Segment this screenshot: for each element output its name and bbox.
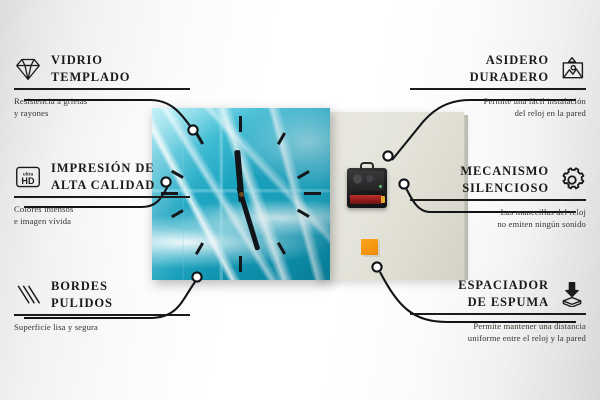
tick-mark [277, 242, 286, 255]
polished-edges-icon [14, 282, 42, 308]
feature-heading: ESPACIADOR DE ESPUMA [410, 277, 586, 310]
gear-icon [558, 167, 586, 193]
feature-title: IMPRESIÓN DE ALTA CALIDAD [51, 160, 155, 193]
battery-terminal [381, 196, 385, 203]
foam-spacer-pad [361, 239, 378, 255]
feature-description: Superficie lisa y segura [14, 321, 190, 333]
tick-mark [304, 192, 321, 195]
feature-mecanismo-silencioso: MECANISMO SILENCIOSO Las manecillas del … [410, 163, 586, 230]
mechanism-hanger-loop [360, 162, 374, 170]
feature-title-line1: VIDRIO [51, 53, 103, 67]
battery [350, 195, 382, 204]
feature-title: VIDRIO TEMPLADO [51, 52, 130, 85]
feature-bordes-pulidos: BORDES PULIDOS Superficie lisa y segura [14, 278, 190, 333]
feature-desc-line1: Superficie lisa y segura [14, 322, 98, 332]
foam-spacer-arrow-icon [558, 281, 586, 307]
tick-mark [195, 132, 204, 145]
tick-mark [239, 256, 242, 272]
tick-mark [277, 132, 286, 145]
feature-title-line2: SILENCIOSO [462, 181, 549, 195]
feature-description: Las manecillas del reloj no emiten ningú… [410, 206, 586, 230]
feature-desc-line2: uniforme entre el reloj y la pared [468, 333, 586, 343]
feature-vidrio-templado: VIDRIO TEMPLADO Resistencia a grietas y … [14, 52, 190, 119]
feature-heading: VIDRIO TEMPLADO [14, 52, 190, 85]
feature-description: Resistencia a grietas y rayones [14, 95, 190, 119]
feature-heading: ultra HD IMPRESIÓN DE ALTA CALIDAD [14, 160, 190, 193]
divider [410, 88, 586, 90]
feature-title: ASIDERO DURADERO [470, 52, 549, 85]
feature-description: Permite una fácil instalación del reloj … [410, 95, 586, 119]
feature-title-line2: PULIDOS [51, 296, 113, 310]
feature-title-line1: MECANISMO [460, 164, 549, 178]
feature-desc-line1: Permite mantener una distancia [473, 321, 586, 331]
mechanism-indicator [379, 185, 382, 188]
feature-title-line2: DE ESPUMA [468, 295, 549, 309]
feature-title-line1: IMPRESIÓN DE [51, 161, 155, 175]
divider [410, 313, 586, 315]
divider [14, 314, 190, 316]
infographic-canvas: VIDRIO TEMPLADO Resistencia a grietas y … [0, 0, 600, 400]
tick-mark [297, 170, 310, 179]
quartz-mechanism [347, 168, 387, 208]
divider [410, 199, 586, 201]
divider [14, 88, 190, 90]
feature-heading: BORDES PULIDOS [14, 278, 190, 311]
picture-hanger-icon [558, 56, 586, 82]
feature-title-line2: TEMPLADO [51, 70, 130, 84]
feature-title-line2: ALTA CALIDAD [51, 178, 155, 192]
divider [14, 196, 190, 198]
feature-desc-line2: no emiten ningún sonido [497, 219, 586, 229]
feature-asidero-duradero: ASIDERO DURADERO Permite una fácil insta… [410, 52, 586, 119]
feature-description: Permite mantener una distancia uniforme … [410, 320, 586, 344]
feature-impresion-alta-calidad: ultra HD IMPRESIÓN DE ALTA CALIDAD Color… [14, 160, 190, 227]
feature-espaciador-espuma: ESPACIADOR DE ESPUMA Permite mantener un… [410, 277, 586, 344]
feature-title: MECANISMO SILENCIOSO [460, 163, 549, 196]
clock-center-pin [239, 192, 244, 197]
feature-heading: ASIDERO DURADERO [410, 52, 586, 85]
feature-desc-line1: Colores intensos [14, 204, 73, 214]
feature-desc-line1: Las manecillas del reloj [501, 207, 586, 217]
feature-title-line1: ASIDERO [486, 53, 549, 67]
feature-description: Colores intensos e imagen vívida [14, 203, 190, 227]
diamond-icon [14, 56, 42, 82]
feature-title: ESPACIADOR DE ESPUMA [458, 277, 549, 310]
feature-desc-line2: del reloj en la pared [515, 108, 586, 118]
tick-mark [297, 209, 310, 218]
feature-desc-line2: e imagen vívida [14, 216, 71, 226]
tick-mark [195, 242, 204, 255]
badge-main-text: HD [21, 175, 35, 185]
feature-desc-line1: Resistencia a grietas [14, 96, 87, 106]
feature-desc-line2: y rayones [14, 108, 49, 118]
feature-title-line2: DURADERO [470, 70, 549, 84]
feature-title-line1: BORDES [51, 279, 108, 293]
feature-title: BORDES PULIDOS [51, 278, 113, 311]
ultra-hd-badge-icon: ultra HD [14, 164, 42, 190]
feature-heading: MECANISMO SILENCIOSO [410, 163, 586, 196]
tick-mark [239, 116, 242, 132]
feature-desc-line1: Permite una fácil instalación [484, 96, 586, 106]
feature-title-line1: ESPACIADOR [458, 278, 549, 292]
mechanism-housing [350, 171, 384, 191]
